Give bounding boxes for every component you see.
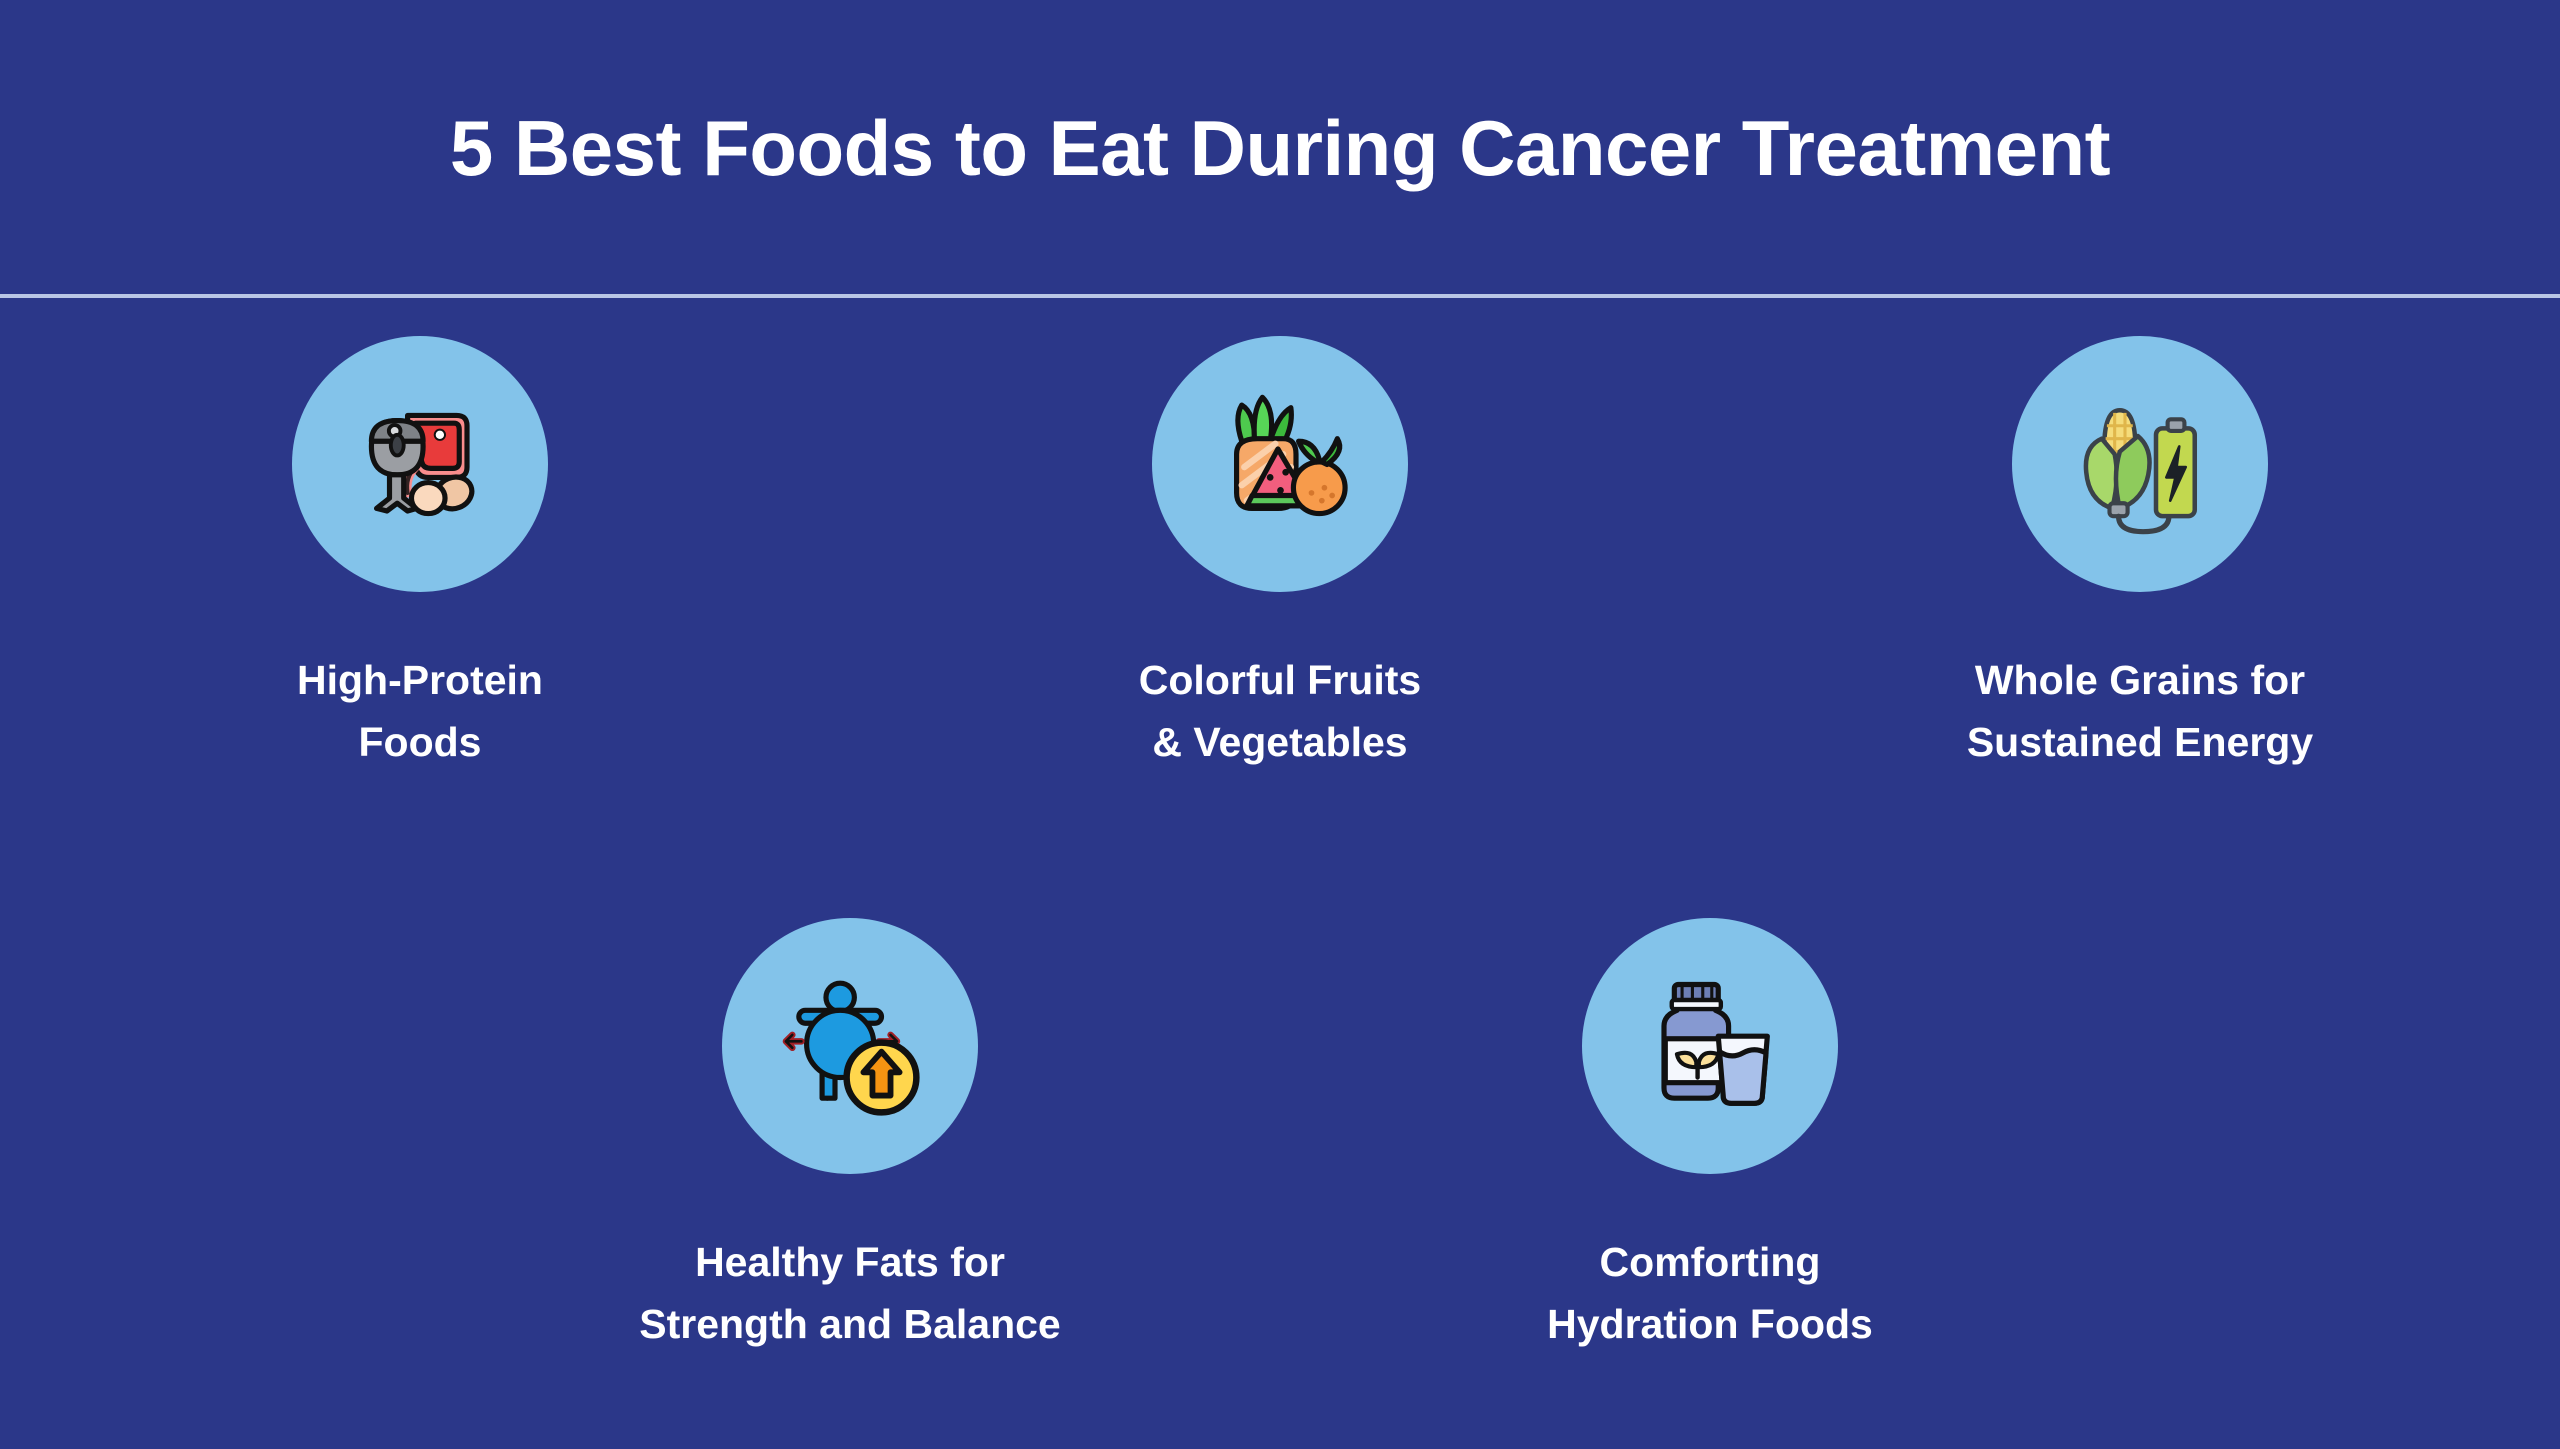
card-whole-grains-energy[interactable]: Whole Grains for Sustained Energy [1925,336,2355,773]
card-high-protein-foods[interactable]: High-Protein Foods [205,336,635,773]
card-colorful-fruits-vegetables[interactable]: Colorful Fruits & Vegetables [1065,336,1495,773]
icon-circle [1582,918,1838,1174]
protein-foods-icon [343,387,498,542]
icon-circle [292,336,548,592]
page-title: 5 Best Foods to Eat During Cancer Treatm… [450,109,2110,187]
healthy-fats-balance-icon [773,969,928,1124]
card-label: Comforting Hydration Foods [1547,1232,1873,1355]
cards-area: High-Protein Foods [0,298,2560,1449]
cards-row-bottom: Healthy Fats for Strength and Balance [0,918,2560,1355]
icon-circle [722,918,978,1174]
icon-circle [2012,336,2268,592]
hydration-foods-icon [1633,969,1788,1124]
card-label: High-Protein Foods [297,650,543,773]
cards-row-top: High-Protein Foods [0,336,2560,773]
card-label: Healthy Fats for Strength and Balance [639,1232,1060,1355]
card-label: Whole Grains for Sustained Energy [1967,650,2313,773]
fruits-vegetables-icon [1203,387,1358,542]
icon-circle [1152,336,1408,592]
card-comforting-hydration-foods[interactable]: Comforting Hydration Foods [1495,918,1925,1355]
whole-grains-energy-icon [2063,387,2218,542]
card-label: Colorful Fruits & Vegetables [1139,650,1421,773]
page-header: 5 Best Foods to Eat During Cancer Treatm… [0,0,2560,296]
card-healthy-fats-balance[interactable]: Healthy Fats for Strength and Balance [635,918,1065,1355]
